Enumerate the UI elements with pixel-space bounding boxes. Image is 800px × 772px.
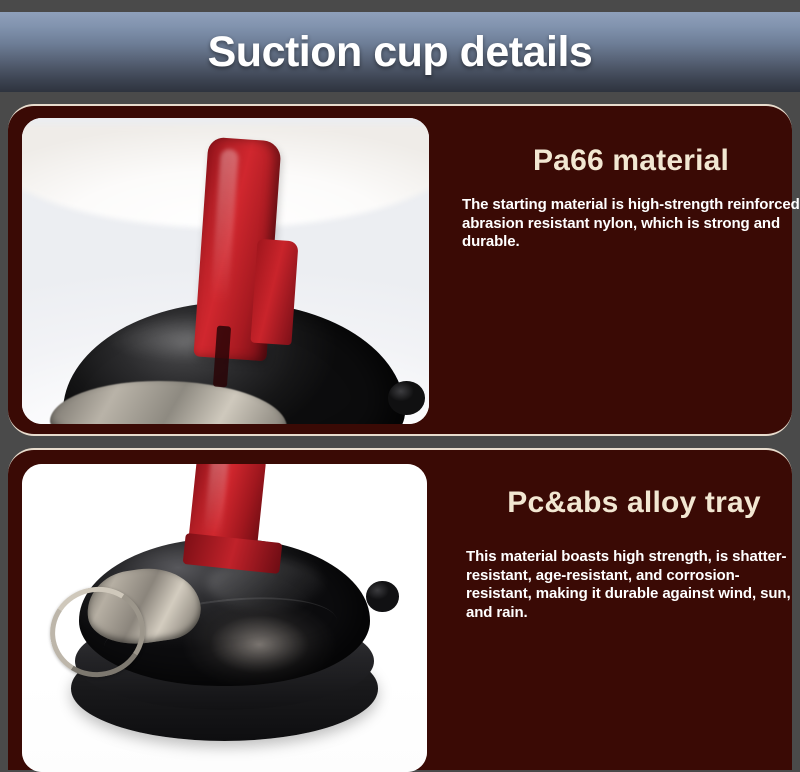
feature-description: This material boasts high strength, is s… xyxy=(452,548,800,622)
red-lever-tab xyxy=(250,239,298,346)
product-photo-lever-closeup xyxy=(22,118,429,424)
feature-heading: Pa66 material xyxy=(462,144,800,178)
feature-text-column-1: Pa66 material The starting material is h… xyxy=(452,144,800,252)
page-title: Suction cup details xyxy=(208,28,593,77)
feature-panel-pa66-material: Pa66 material The starting material is h… xyxy=(8,104,792,436)
feature-panel-pcabs-alloy-tray: Pc&abs alloy tray This material boasts h… xyxy=(8,448,792,770)
side-nub xyxy=(388,381,425,415)
feature-text-column-2: Pc&abs alloy tray This material boasts h… xyxy=(452,486,800,622)
side-nub xyxy=(366,581,398,612)
feature-description: The starting material is high-strength r… xyxy=(452,196,800,252)
header-banner: Suction cup details xyxy=(0,12,800,92)
product-photo-suction-cup-dring xyxy=(22,464,427,772)
feature-heading: Pc&abs alloy tray xyxy=(468,486,800,520)
